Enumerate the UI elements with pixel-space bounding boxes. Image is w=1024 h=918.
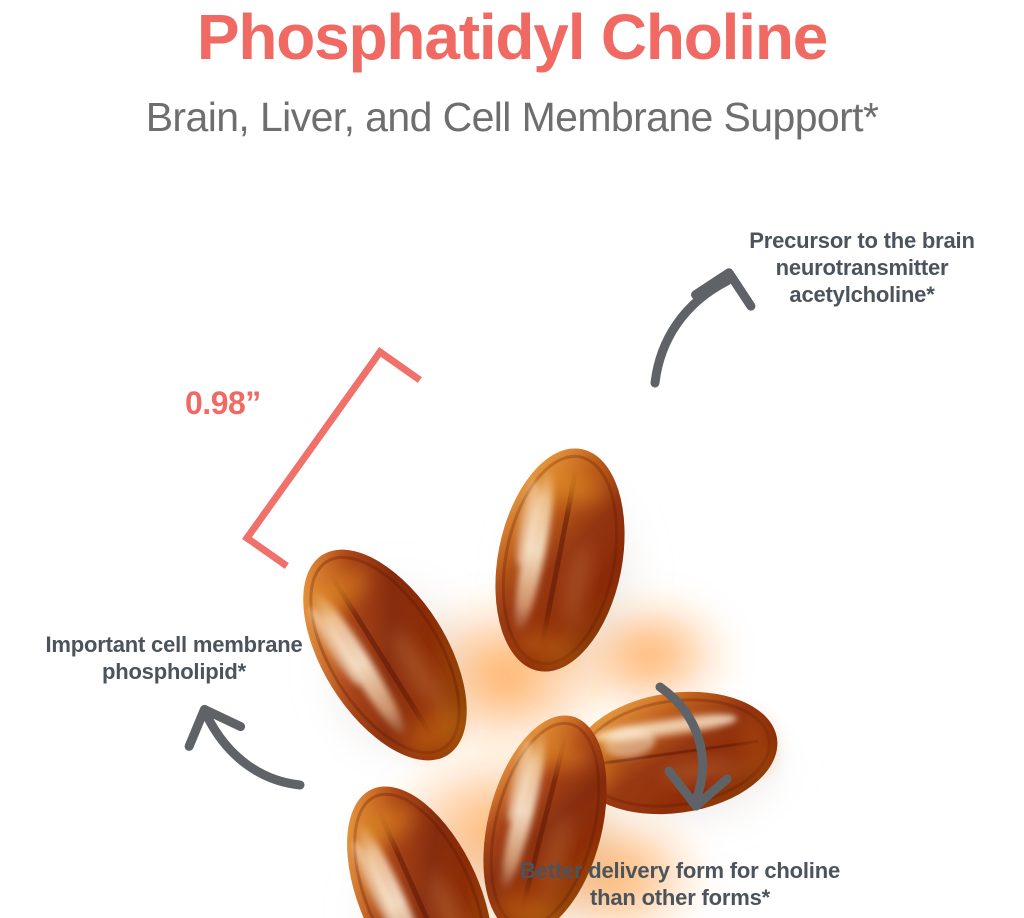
measurement-label: 0.98”: [185, 385, 305, 422]
curved-arrow-up-left-icon: [188, 709, 300, 785]
callout-phospholipid-text: Important cell membrane phospholipid*: [0, 632, 350, 686]
page-title: Phosphatidyl Choline: [0, 4, 1024, 71]
infographic-canvas: Phosphatidyl Choline Brain, Liver, and C…: [0, 0, 1024, 918]
callout-delivery-text: Better delivery form for choline than ot…: [455, 858, 905, 912]
callout-precursor-text: Precursor to the brain neurotransmitter …: [700, 228, 1024, 308]
measurement-bracket: [247, 352, 417, 564]
page-subtitle: Brain, Liver, and Cell Membrane Support*: [0, 95, 1024, 140]
